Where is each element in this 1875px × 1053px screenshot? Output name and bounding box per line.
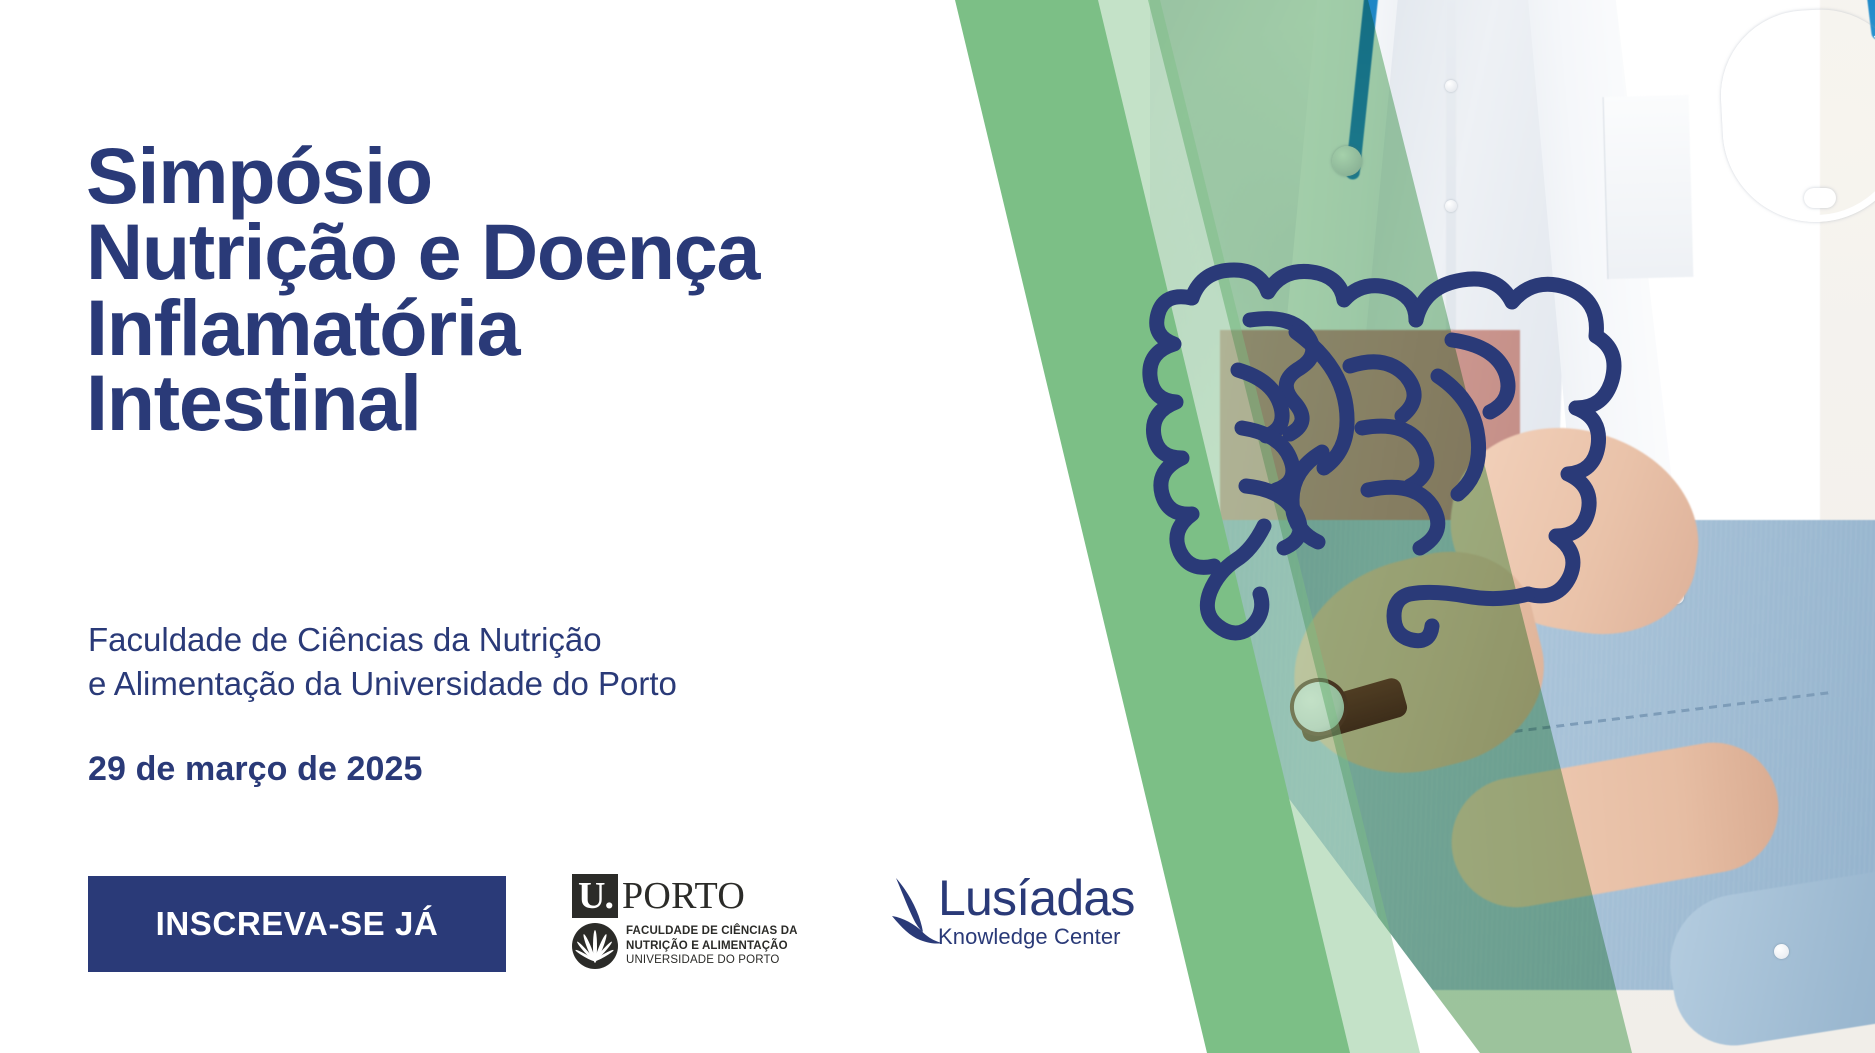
title-line-2: Nutrição e Doença: [86, 214, 926, 290]
cuff-button: [1774, 944, 1789, 959]
uporto-logo[interactable]: U. PORTO FACULDADE DE CIÊNCIAS DA NUTRIÇ…: [572, 872, 807, 982]
lusiadas-tagline: Knowledge Center: [938, 924, 1121, 949]
title-line-3: Inflamatória: [86, 290, 926, 366]
lusiadas-row: Lusíadas Knowledge Center: [890, 872, 1160, 950]
uporto-u-mark: U.: [572, 874, 618, 918]
page-title: Simpósio Nutrição e Doença Inflamatória …: [86, 138, 926, 441]
organizer-subtitle: Faculdade de Ciências da Nutrição e Alim…: [88, 618, 888, 705]
lusiadas-logo[interactable]: Lusíadas Knowledge Center: [890, 872, 1160, 982]
fcnaup-lines: FACULDADE DE CIÊNCIAS DA NUTRIÇÃO E ALIM…: [626, 924, 798, 969]
register-button[interactable]: INSCREVA-SE JÁ: [88, 876, 506, 972]
lusiadas-wordmark: Lusíadas: [938, 870, 1135, 926]
promo-banner: Simpósio Nutrição e Doença Inflamatória …: [0, 0, 1875, 1053]
uporto-wordmark: PORTO: [622, 874, 745, 918]
fcnaup-line-3: UNIVERSIDADE DO PORTO: [626, 953, 798, 968]
content-column: Simpósio Nutrição e Doença Inflamatória …: [0, 0, 960, 1053]
event-date: 29 de março de 2025: [88, 750, 423, 789]
stethoscope-clip: [1804, 188, 1836, 208]
subtitle-line-1: Faculdade de Ciências da Nutrição: [88, 618, 888, 662]
title-line-4: Intestinal: [86, 365, 926, 441]
title-line-1: Simpósio: [86, 138, 926, 214]
shirt-button: [1445, 200, 1457, 212]
coat-pocket: [1603, 95, 1694, 279]
uporto-wordmark-row: U. PORTO: [572, 872, 807, 918]
shirt-button: [1445, 80, 1457, 92]
fcnaup-row: FACULDADE DE CIÊNCIAS DA NUTRIÇÃO E ALIM…: [572, 923, 807, 969]
subtitle-line-2: e Alimentação da Universidade do Porto: [88, 662, 888, 706]
leaf-circle-icon: [572, 923, 618, 969]
fcnaup-line-2: NUTRIÇÃO E ALIMENTAÇÃO: [626, 939, 798, 954]
sail-wing-icon: [890, 874, 942, 946]
lusiadas-text: Lusíadas Knowledge Center: [938, 872, 1160, 950]
fcnaup-line-1: FACULDADE DE CIÊNCIAS DA: [626, 924, 798, 939]
